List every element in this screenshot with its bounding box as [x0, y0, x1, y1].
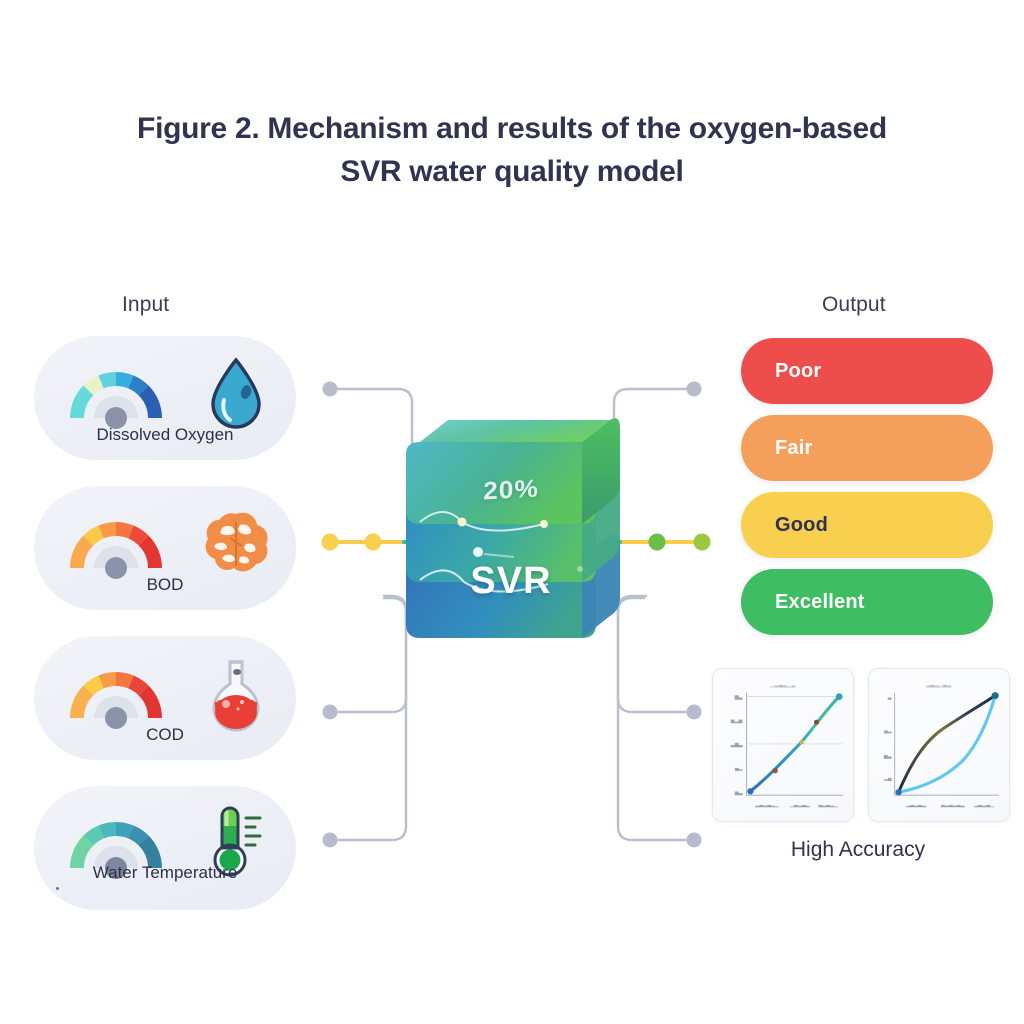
svg-text:▄▂: ▄▂ — [884, 728, 892, 734]
input-card-label: COD — [34, 724, 296, 746]
page-title: Figure 2. Mechanism and results of the o… — [120, 108, 904, 193]
input-card-label: Dissolved Oxygen — [34, 424, 296, 446]
svr-model-block[interactable]: 20% SVR — [398, 418, 624, 650]
output-badge-list: Poor Fair Good Excellent — [741, 338, 993, 646]
input-card-water-temperature[interactable]: Water Temperature — [34, 786, 296, 910]
svg-text:▃: ▃ — [887, 695, 892, 701]
y-tick-labels: ▃ ▄▂ ▅▃ ▂▄ — [883, 695, 892, 782]
input-card-cod[interactable]: COD — [34, 636, 296, 760]
svg-text:▃▆▃: ▃▆▃ — [730, 742, 743, 748]
gauge-icon — [62, 362, 170, 426]
accuracy-caption: High Accuracy — [708, 838, 1008, 862]
stacked-3d-box-icon — [398, 418, 624, 650]
svg-text:▂▄: ▂▄ — [883, 775, 892, 781]
input-card-dissolved-oxygen[interactable]: Dissolved Oxygen — [34, 336, 296, 460]
svg-text:▄▂: ▄▂ — [735, 766, 743, 772]
x-tick-labels: ▂▃▂▃▂▁ ▁▃▂▃▂ ▃▂▃▂▁ — [754, 802, 838, 808]
label-bullet-dot — [56, 887, 59, 890]
output-badge-good[interactable]: Good — [741, 492, 993, 558]
svg-text:▂▃▂▃▂▁: ▂▃▂▃▂▁ — [754, 802, 779, 808]
svg-text:▂▃▂▃▁: ▂▃▂▃▁ — [974, 802, 995, 808]
input-card-bod[interactable]: BOD — [34, 486, 296, 610]
output-badge-label: Fair — [775, 437, 812, 460]
accuracy-chart-scatter-fit[interactable]: ▁▂▃▂▁▂ ▆▃ ▅▂▅ ▃▆▃ ▄▂ ▅▃ ▂▃▂▃▂▁ ▁▃▂▃▂ ▃▂▃… — [712, 668, 854, 822]
output-badge-label: Excellent — [775, 591, 865, 614]
microbe-brain-icon — [200, 504, 272, 582]
output-badge-excellent[interactable]: Excellent — [741, 569, 993, 635]
output-badge-label: Good — [775, 514, 828, 537]
input-card-list: Dissolved Oxygen — [34, 336, 296, 936]
gauge-icon — [62, 662, 170, 726]
water-droplet-icon — [200, 354, 272, 432]
svg-text:▅▃: ▅▃ — [734, 790, 743, 796]
output-badge-poor[interactable]: Poor — [741, 338, 993, 404]
input-card-label: BOD — [34, 574, 296, 596]
accuracy-chart-dual-curve[interactable]: ▂▃▂▁▃▂ ▃ ▄▂ ▅▃ ▂▄ ▂▃▂▃▂ ▃▂▃▂▃▂ ▂▃▂▃▁ — [868, 668, 1010, 822]
output-section-heading: Output — [822, 293, 886, 317]
svg-text:▂▃▂▃▂: ▂▃▂▃▂ — [905, 802, 926, 808]
svr-model-label: SVR — [398, 560, 624, 603]
input-section-heading: Input — [122, 293, 169, 317]
output-badge-label: Poor — [775, 360, 821, 383]
x-tick-labels: ▂▃▂▃▂ ▃▂▃▂▃▂ ▂▃▂▃▁ — [905, 802, 994, 808]
flask-icon — [200, 654, 272, 732]
svg-text:▁▃▂▃▂: ▁▃▂▃▂ — [789, 802, 810, 808]
y-tick-labels: ▆▃ ▅▂▅ ▃▆▃ ▄▂ ▅▃ — [730, 695, 743, 797]
chart-title-blur: ▂▃▂▁▃▂ — [925, 683, 951, 688]
svg-text:▃▂▃▂▃▂: ▃▂▃▂▃▂ — [940, 802, 965, 808]
line-chart-icon: ▁▂▃▂▁▂ ▆▃ ▅▂▅ ▃▆▃ ▄▂ ▅▃ ▂▃▂▃▂▁ ▁▃▂▃▂ ▃▂▃… — [713, 669, 853, 821]
output-badge-fair[interactable]: Fair — [741, 415, 993, 481]
svg-text:▅▂▅: ▅▂▅ — [730, 718, 743, 724]
input-card-label: Water Temperature — [34, 862, 296, 884]
svg-text:▅▃: ▅▃ — [883, 754, 892, 760]
chart-title-blur: ▁▂▃▂▁▂ — [769, 683, 795, 688]
svg-text:▆▃: ▆▃ — [734, 695, 743, 701]
gauge-icon — [62, 512, 170, 576]
svg-text:▃▂▃▂▁: ▃▂▃▂▁ — [818, 802, 839, 808]
line-chart-icon: ▂▃▂▁▃▂ ▃ ▄▂ ▅▃ ▂▄ ▂▃▂▃▂ ▃▂▃▂▃▂ ▂▃▂▃▁ — [869, 669, 1009, 821]
